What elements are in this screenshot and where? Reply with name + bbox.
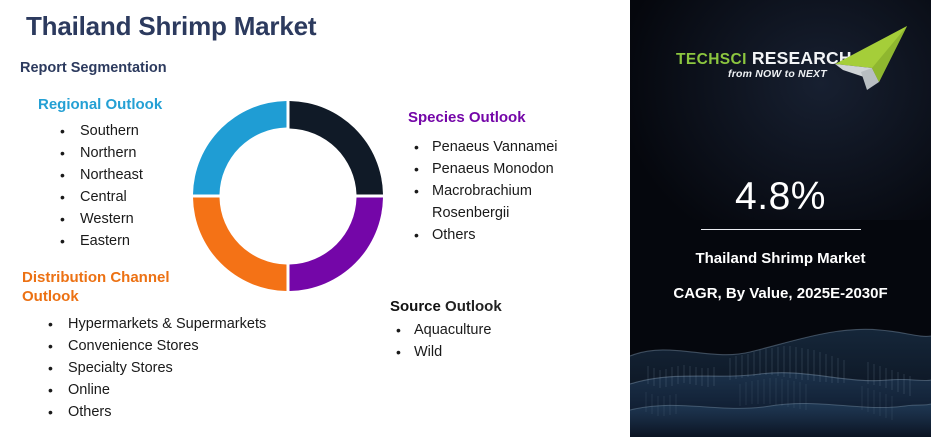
donut-chart-svg xyxy=(190,98,386,294)
list-item: Wild xyxy=(390,341,590,363)
list-item: Others xyxy=(42,401,322,423)
heading-line-2: Outlook xyxy=(22,288,79,305)
report-segmentation-label: Report Segmentation xyxy=(20,60,167,76)
page-title: Thailand Shrimp Market xyxy=(26,11,316,42)
list-item: Convenience Stores xyxy=(42,335,322,357)
heading-line-1: Distribution Channel xyxy=(22,269,170,286)
cagr-divider xyxy=(701,229,861,230)
list-item-continuation: Rosenbergii xyxy=(408,202,608,224)
logo-name-techsci: TECHSCI xyxy=(676,51,747,68)
distribution-channel-outlook-list: Hypermarkets & Supermarkets Convenience … xyxy=(22,313,322,423)
logo-tagline: from NOW to NEXT xyxy=(728,68,827,80)
techsci-research-logo: TECHSCI RESEARCH from NOW to NEXT xyxy=(630,18,931,88)
distribution-channel-outlook-heading: Distribution Channel Outlook xyxy=(22,268,197,306)
list-item: Hypermarkets & Supermarkets xyxy=(42,313,322,335)
donut-segment-source xyxy=(193,101,287,195)
cagr-value: 4.8% xyxy=(630,175,931,219)
left-content-panel: Thailand Shrimp Market Report Segmentati… xyxy=(0,0,630,437)
cagr-caption-market: Thailand Shrimp Market xyxy=(630,250,931,267)
species-outlook-heading: Species Outlook xyxy=(408,108,608,127)
dart-arrow-icon xyxy=(815,20,910,95)
list-item: Aquaculture xyxy=(390,319,590,341)
list-item: Penaeus Monodon xyxy=(408,158,608,180)
source-heading-rest: Outlook xyxy=(441,298,502,315)
donut-segment-regional xyxy=(193,198,287,292)
species-outlook-list: Penaeus Vannamei Penaeus Monodon Macrobr… xyxy=(408,136,608,246)
list-item: Macrobrachium xyxy=(408,180,608,202)
infographic-page: Thailand Shrimp Market Report Segmentati… xyxy=(0,0,931,437)
list-item: Penaeus Vannamei xyxy=(408,136,608,158)
source-outlook-list: Aquaculture Wild xyxy=(390,319,590,363)
species-outlook-block: Species Outlook Penaeus Vannamei Penaeus… xyxy=(408,108,608,246)
list-item: Specialty Stores xyxy=(42,357,322,379)
list-item: Online xyxy=(42,379,322,401)
cagr-caption-period: CAGR, By Value, 2025E-2030F xyxy=(630,285,931,302)
source-outlook-block: Source Outlook Aquaculture Wild xyxy=(390,297,590,363)
source-outlook-heading: Source Outlook xyxy=(390,297,590,316)
list-item: Others xyxy=(408,224,608,246)
donut-segment-distribution xyxy=(290,198,384,292)
wave-mesh-decoration xyxy=(630,322,931,437)
donut-segment-species xyxy=(290,101,384,195)
segmentation-donut-chart xyxy=(190,98,386,294)
source-heading-bold: Source xyxy=(390,298,441,315)
right-branding-panel: TECHSCI RESEARCH from NOW to NEXT 4.8% T… xyxy=(630,0,931,437)
